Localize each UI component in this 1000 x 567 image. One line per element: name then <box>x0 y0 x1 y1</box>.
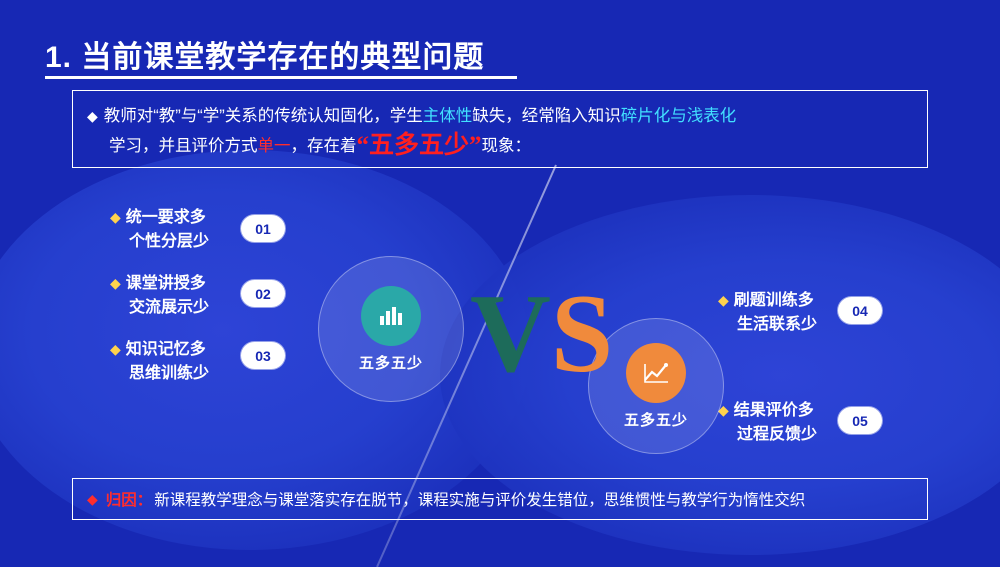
circle-right-label: 五多五少 <box>624 409 688 430</box>
diamond-icon: ◆ <box>110 341 121 357</box>
right-item-4: ◆刷题训练多 生活联系少 <box>718 288 817 337</box>
left-item-2-line1: 课堂讲授多 <box>126 275 206 292</box>
vs-letter-v: V <box>470 272 551 396</box>
right-item-4-line1: 刷题训练多 <box>734 292 814 309</box>
circle-left-label: 五多五少 <box>359 352 423 373</box>
left-item-3: ◆知识记忆多 思维训练少 <box>110 337 209 386</box>
vs-graphic: VS <box>470 278 613 390</box>
statement-line-2: 学习，并且评价方式单一，存在着“五多五少”现象： <box>87 131 913 161</box>
statement-highlight-3: 单一 <box>258 137 291 155</box>
title-underline <box>45 76 517 79</box>
vs-letter-s: S <box>551 272 613 396</box>
right-item-4-line2: 生活联系少 <box>737 316 817 333</box>
circle-left: 五多五少 <box>318 256 464 402</box>
diamond-icon: ◆ <box>87 108 98 124</box>
statement-box: ◆教师对“教”与“学”关系的传统认知固化，学生主体性缺失，经常陷入知识碎片化与浅… <box>72 90 928 168</box>
conclusion-box: ◆归因：新课程教学理念与课堂落实存在脱节，课程实施与评价发生错位，思维惯性与教学… <box>72 478 928 520</box>
line-chart-icon <box>626 343 686 403</box>
statement-text-2b: ，存在着 <box>291 137 357 155</box>
right-item-5-line2: 过程反馈少 <box>737 426 817 443</box>
statement-text-1b: 缺失，经常陷入知识 <box>472 107 621 125</box>
diamond-icon: ◆ <box>110 275 121 291</box>
left-item-1-number: 01 <box>241 215 285 242</box>
statement-highlight-2: 碎片化与浅表化 <box>621 107 737 125</box>
diamond-icon: ◆ <box>110 209 121 225</box>
left-item-1-line2: 个性分层少 <box>129 233 209 250</box>
right-item-5-line1: 结果评价多 <box>734 402 814 419</box>
conclusion-key: 归因： <box>106 488 153 510</box>
statement-highlight-1: 主体性 <box>423 107 473 125</box>
left-item-2: ◆课堂讲授多 交流展示少 <box>110 271 209 320</box>
right-item-4-number: 04 <box>838 297 882 324</box>
right-item-5-number: 05 <box>838 407 882 434</box>
statement-text-2a: 学习，并且评价方式 <box>109 137 258 155</box>
bar-chart-icon <box>361 286 421 346</box>
left-item-3-number: 03 <box>241 342 285 369</box>
diamond-icon: ◆ <box>718 292 729 308</box>
left-item-2-line2: 交流展示少 <box>129 299 209 316</box>
left-item-2-number: 02 <box>241 280 285 307</box>
statement-emphasis: “五多五少” <box>357 132 482 159</box>
left-item-3-line2: 思维训练少 <box>129 365 209 382</box>
left-item-3-line1: 知识记忆多 <box>126 341 206 358</box>
statement-line-1: ◆教师对“教”与“学”关系的传统认知固化，学生主体性缺失，经常陷入知识碎片化与浅… <box>87 101 913 131</box>
left-item-1: ◆统一要求多 个性分层少 <box>110 205 209 254</box>
left-item-1-line1: 统一要求多 <box>126 209 206 226</box>
page-title: 1. 当前课堂教学存在的典型问题 <box>45 32 484 76</box>
conclusion-text: 新课程教学理念与课堂落实存在脱节，课程实施与评价发生错位，思维惯性与教学行为惰性… <box>154 488 805 510</box>
statement-text-1a: 教师对“教”与“学”关系的传统认知固化，学生 <box>104 107 423 125</box>
statement-text-2c: 现象： <box>482 137 532 155</box>
right-item-5: ◆结果评价多 过程反馈少 <box>718 398 817 447</box>
diamond-icon: ◆ <box>87 491 98 508</box>
